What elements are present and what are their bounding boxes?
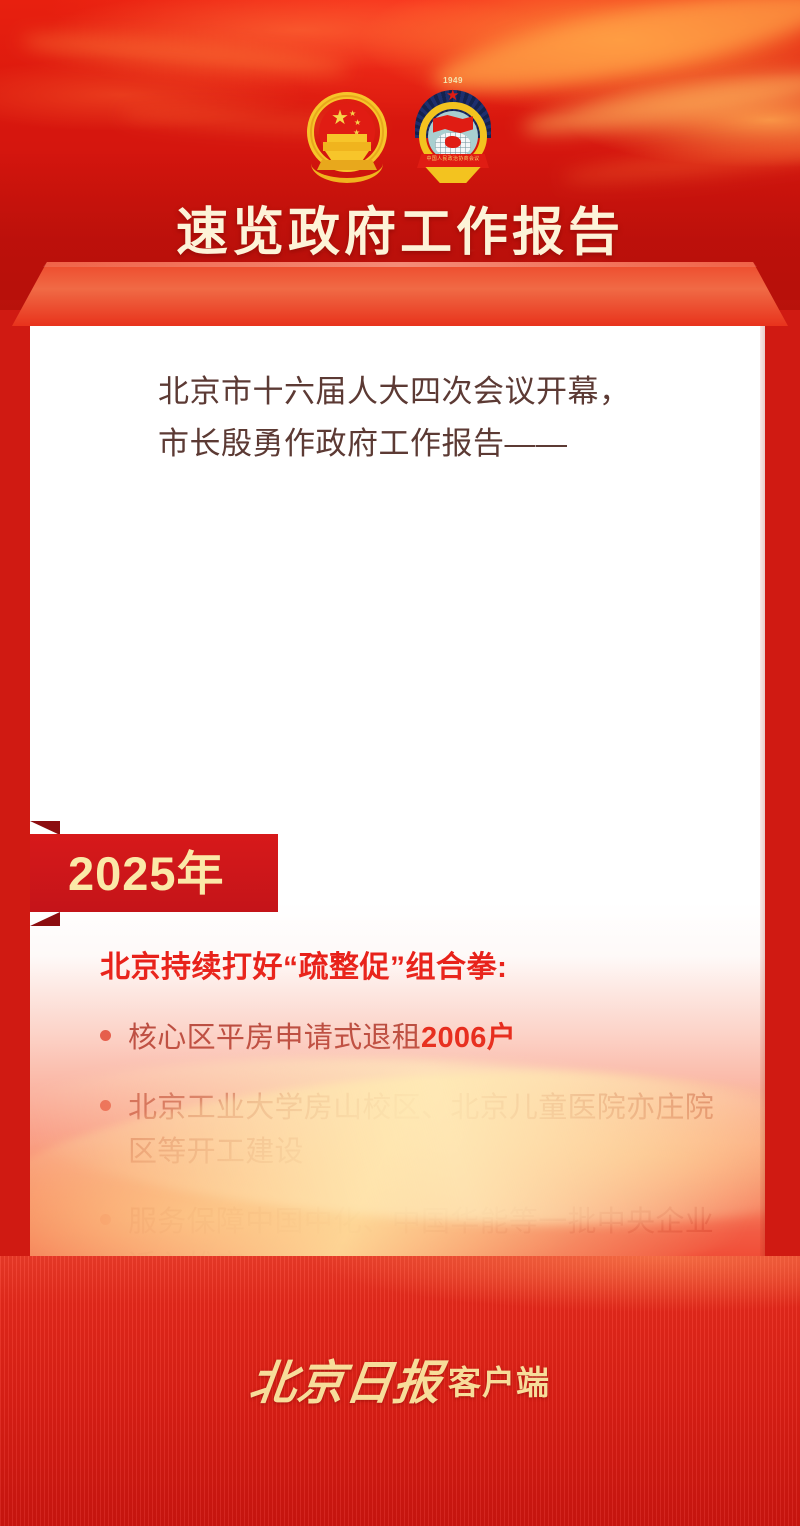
footer-sheen — [0, 1256, 800, 1346]
silk-fold-highlight — [19, 26, 350, 85]
cppcc-banner-label: 中国人民政治协商会议 — [417, 155, 489, 162]
cppcc-gold-base — [423, 167, 483, 183]
emblem-ribbon — [311, 144, 383, 183]
cppcc-star-icon: ★ — [446, 88, 459, 103]
publisher-logo: 北京日报客户端 — [0, 1344, 800, 1413]
subtitle-line-2: 市长殷勇作政府工作报告—— — [158, 418, 738, 470]
publisher-app-label: 客户端 — [448, 1356, 550, 1404]
subtitle-line-1: 北京市十六届人大四次会议开幕， — [158, 366, 738, 418]
badge-fold-top — [30, 821, 60, 835]
poster-title-reflection: 速览政府工作报告 — [0, 244, 800, 259]
card-shelf-highlight — [12, 262, 788, 267]
national-emblem-icon: ★ ★ ★ ★ ★ — [303, 88, 391, 188]
emblem-large-star-icon: ★ — [331, 108, 349, 128]
emblem-small-star-icon: ★ — [354, 119, 361, 127]
card-shelf-trapezoid — [12, 262, 788, 326]
footer-band: 北京日报客户端 — [0, 1256, 800, 1526]
year-badge: 2025年 — [30, 834, 278, 912]
year-badge-label: 2025年 — [68, 850, 225, 897]
cppcc-emblem-icon: ★ 1949 中国人民政治协商会议 — [409, 88, 497, 188]
emblem-tiananmen-roof — [327, 134, 367, 142]
emblem-small-star-icon: ★ — [349, 110, 356, 118]
poster-root: ★ ★ ★ ★ ★ ★ 1949 中国人民政治协商会议 速览政府工作报告 — [0, 0, 800, 1526]
cppcc-china-map-icon — [445, 136, 461, 148]
publisher-brand-name: 北京日报 — [246, 1344, 446, 1413]
cppcc-year-label: 1949 — [409, 76, 497, 85]
badge-fold-bottom — [30, 912, 60, 926]
content-card: 北京市十六届人大四次会议开幕， 市长殷勇作政府工作报告—— 2025年 北京持续… — [30, 326, 765, 1256]
emblem-row: ★ ★ ★ ★ ★ ★ 1949 中国人民政治协商会议 — [0, 86, 800, 190]
card-right-edge — [760, 326, 765, 1256]
subtitle-block: 北京市十六届人大四次会议开幕， 市长殷勇作政府工作报告—— — [158, 366, 738, 470]
